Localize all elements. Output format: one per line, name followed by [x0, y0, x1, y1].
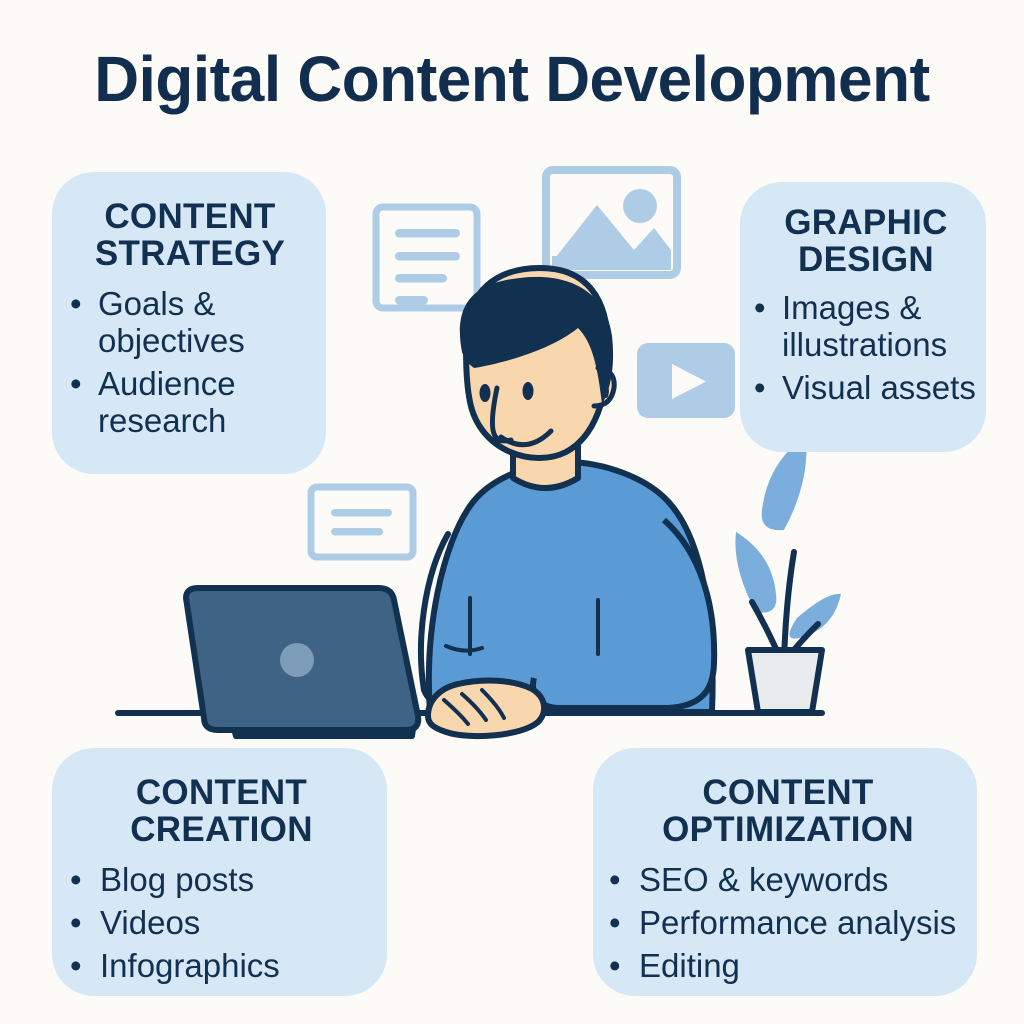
list-item: • Infographics: [70, 948, 373, 985]
card-title-line-2: OPTIMIZATION: [609, 811, 967, 848]
card-title: GRAPHIC DESIGN: [754, 204, 978, 278]
card-bullet-list: • Goals & objectives • Audience research: [70, 286, 310, 440]
page-title: Digital Content Development: [15, 46, 1008, 113]
text-card-icon: [311, 487, 413, 557]
bullet-glyph: •: [70, 366, 82, 403]
bullet-glyph: •: [609, 862, 621, 899]
list-item-label: Infographics: [100, 948, 373, 985]
card-title: CONTENT STRATEGY: [70, 198, 310, 272]
list-item-label: Blog posts: [100, 862, 373, 899]
card-title: CONTENT OPTIMIZATION: [609, 774, 967, 848]
bullet-glyph: •: [70, 286, 82, 323]
potted-plant-icon: [735, 436, 841, 712]
card-title-line-2: DESIGN: [754, 241, 978, 278]
list-item: • Blog posts: [70, 862, 373, 899]
card-title-line-1: CONTENT: [70, 198, 310, 235]
list-item: • SEO & keywords: [609, 862, 967, 899]
card-bullet-list: • Blog posts • Videos • Infographics: [70, 862, 373, 985]
bullet-glyph: •: [70, 862, 82, 899]
card-bullet-list: • SEO & keywords • Performance analysis …: [609, 862, 967, 985]
list-item-label: Goals & objectives: [98, 286, 310, 360]
card-title-line-1: CONTENT: [70, 774, 373, 811]
laptop-logo: [280, 643, 314, 677]
card-title-line-1: GRAPHIC: [754, 204, 978, 241]
list-item: • Visual assets: [754, 370, 978, 407]
list-item: • Goals & objectives: [70, 286, 310, 360]
bullet-glyph: •: [609, 948, 621, 985]
document-icon: [376, 207, 477, 308]
bullet-glyph: •: [70, 905, 82, 942]
list-item: • Audience research: [70, 366, 310, 440]
list-item-label: Editing: [639, 948, 967, 985]
card-title: CONTENT CREATION: [70, 774, 373, 848]
card-title-line-2: STRATEGY: [70, 235, 310, 272]
card-content-creation[interactable]: CONTENT CREATION • Blog posts • Videos •…: [52, 748, 387, 996]
card-title-line-1: CONTENT: [609, 774, 967, 811]
list-item: • Videos: [70, 905, 373, 942]
list-item-label: Visual assets: [782, 370, 978, 407]
image-icon: [546, 170, 677, 275]
list-item: • Images & illustrations: [754, 290, 978, 364]
card-title-line-2: CREATION: [70, 811, 373, 848]
bullet-glyph: •: [754, 370, 766, 407]
person-illustration: [421, 268, 714, 736]
list-item: • Editing: [609, 948, 967, 985]
list-item-label: Performance analysis: [639, 905, 967, 942]
list-item-label: Audience research: [98, 366, 310, 440]
card-bullet-list: • Images & illustrations • Visual assets: [754, 290, 978, 407]
card-content-optimization[interactable]: CONTENT OPTIMIZATION • SEO & keywords • …: [593, 748, 977, 996]
card-graphic-design[interactable]: GRAPHIC DESIGN • Images & illustrations …: [740, 182, 986, 452]
laptop-icon: [186, 588, 418, 736]
bullet-glyph: •: [754, 290, 766, 327]
card-content-strategy[interactable]: CONTENT STRATEGY • Goals & objectives • …: [52, 172, 326, 474]
infographic-canvas: Digital Content Development: [0, 0, 1024, 1024]
list-item: • Performance analysis: [609, 905, 967, 942]
bullet-glyph: •: [609, 905, 621, 942]
bullet-glyph: •: [70, 948, 82, 985]
list-item-label: Images & illustrations: [782, 290, 978, 364]
list-item-label: SEO & keywords: [639, 862, 967, 899]
video-play-icon: [637, 343, 735, 418]
list-item-label: Videos: [100, 905, 373, 942]
